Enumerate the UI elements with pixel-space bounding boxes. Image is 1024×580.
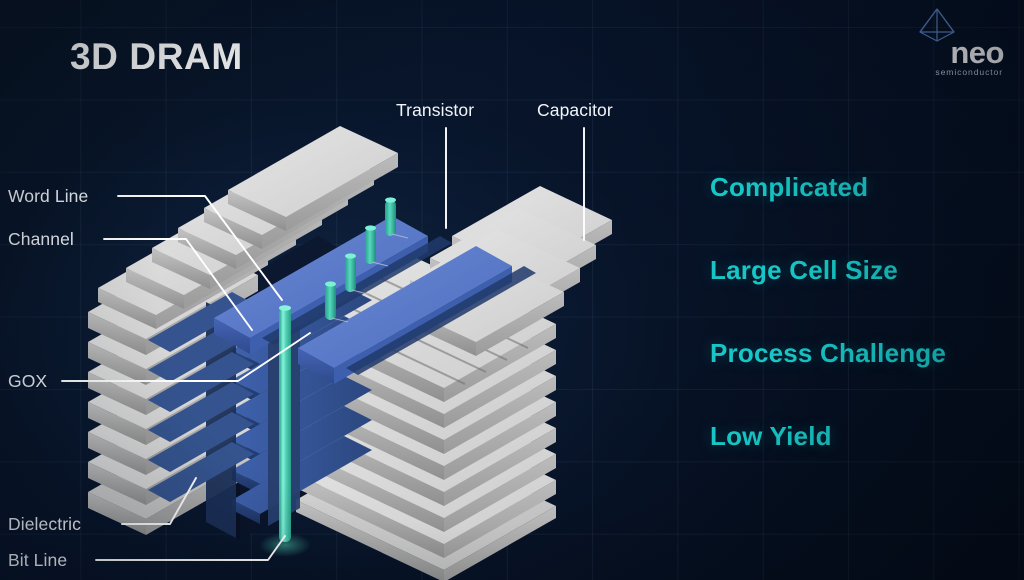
brand-logo: neo semiconductor — [886, 6, 1006, 80]
callout-label-capacitor: Capacitor — [537, 100, 613, 121]
bullet-item-large-cell-size: Large Cell Size — [710, 255, 1020, 286]
callout-label-channel: Channel — [8, 229, 74, 250]
callout-label-bit-line: Bit Line — [8, 550, 67, 571]
benefits-list: Complicated Large Cell Size Process Chal… — [710, 172, 1020, 504]
callout-label-gox: GOX — [8, 371, 47, 392]
callout-label-dielectric: Dielectric — [8, 514, 81, 535]
bullet-item-process-challenge: Process Challenge — [710, 338, 1020, 369]
callout-label-word-line: Word Line — [8, 186, 88, 207]
page-title: 3D DRAM — [70, 36, 243, 78]
callout-label-transistor: Transistor — [396, 100, 474, 121]
bullet-item-low-yield: Low Yield — [710, 421, 1020, 452]
slide-root: Word Line Channel GOX Dielectric Bit Lin… — [0, 0, 1024, 580]
bullet-item-complicated: Complicated — [710, 172, 1020, 203]
logo-wordmark: neo — [950, 37, 1004, 68]
logo-tagline: semiconductor — [935, 67, 1003, 77]
